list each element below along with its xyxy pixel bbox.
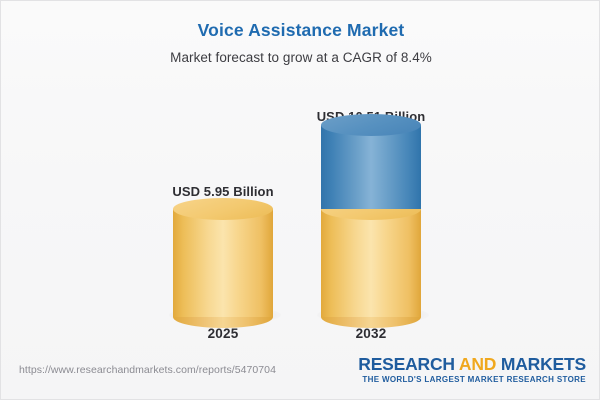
page-title: Voice Assistance Market (1, 20, 600, 41)
logo-wordmark: RESEARCH AND MARKETS (358, 355, 586, 373)
cylinder-body-growth-2032 (321, 125, 421, 209)
cylinder-body-base-2032 (321, 209, 421, 317)
bar-segment-base-2025 (173, 209, 273, 317)
infographic-card: Voice Assistance Market Market forecast … (0, 0, 600, 400)
cylinder-body-2025 (173, 209, 273, 317)
bar-group-2025: USD 5.95 Billion 2025 (143, 81, 303, 346)
chart-subtitle: Market forecast to grow at a CAGR of 8.4… (1, 50, 600, 65)
footer: https://www.researchandmarkets.com/repor… (1, 347, 600, 399)
bar-segment-base-2032 (321, 209, 421, 317)
logo-text-and: AND (459, 354, 501, 374)
x-axis-label-2025: 2025 (143, 326, 303, 341)
x-axis-label-2032: 2032 (291, 326, 451, 341)
source-url[interactable]: https://www.researchandmarkets.com/repor… (19, 364, 276, 376)
logo-text-markets: MARKETS (501, 354, 586, 374)
bar-segment-growth-2032 (321, 125, 421, 209)
logo-text-research: RESEARCH (358, 354, 459, 374)
chart-plot-area: USD 5.95 Billion 2025 USD 10.51 Billion (1, 81, 600, 346)
brand-logo[interactable]: RESEARCH AND MARKETS THE WORLD'S LARGEST… (358, 355, 586, 384)
bar-group-2032: USD 10.51 Billion 2032 (291, 81, 451, 346)
logo-tagline: THE WORLD'S LARGEST MARKET RESEARCH STOR… (358, 375, 586, 384)
cylinder-top-cap-2032 (321, 114, 421, 136)
chart-header: Voice Assistance Market Market forecast … (1, 1, 600, 65)
cylinder-top-cap-2025 (173, 198, 273, 220)
bar-value-label-2025: USD 5.95 Billion (143, 184, 303, 199)
